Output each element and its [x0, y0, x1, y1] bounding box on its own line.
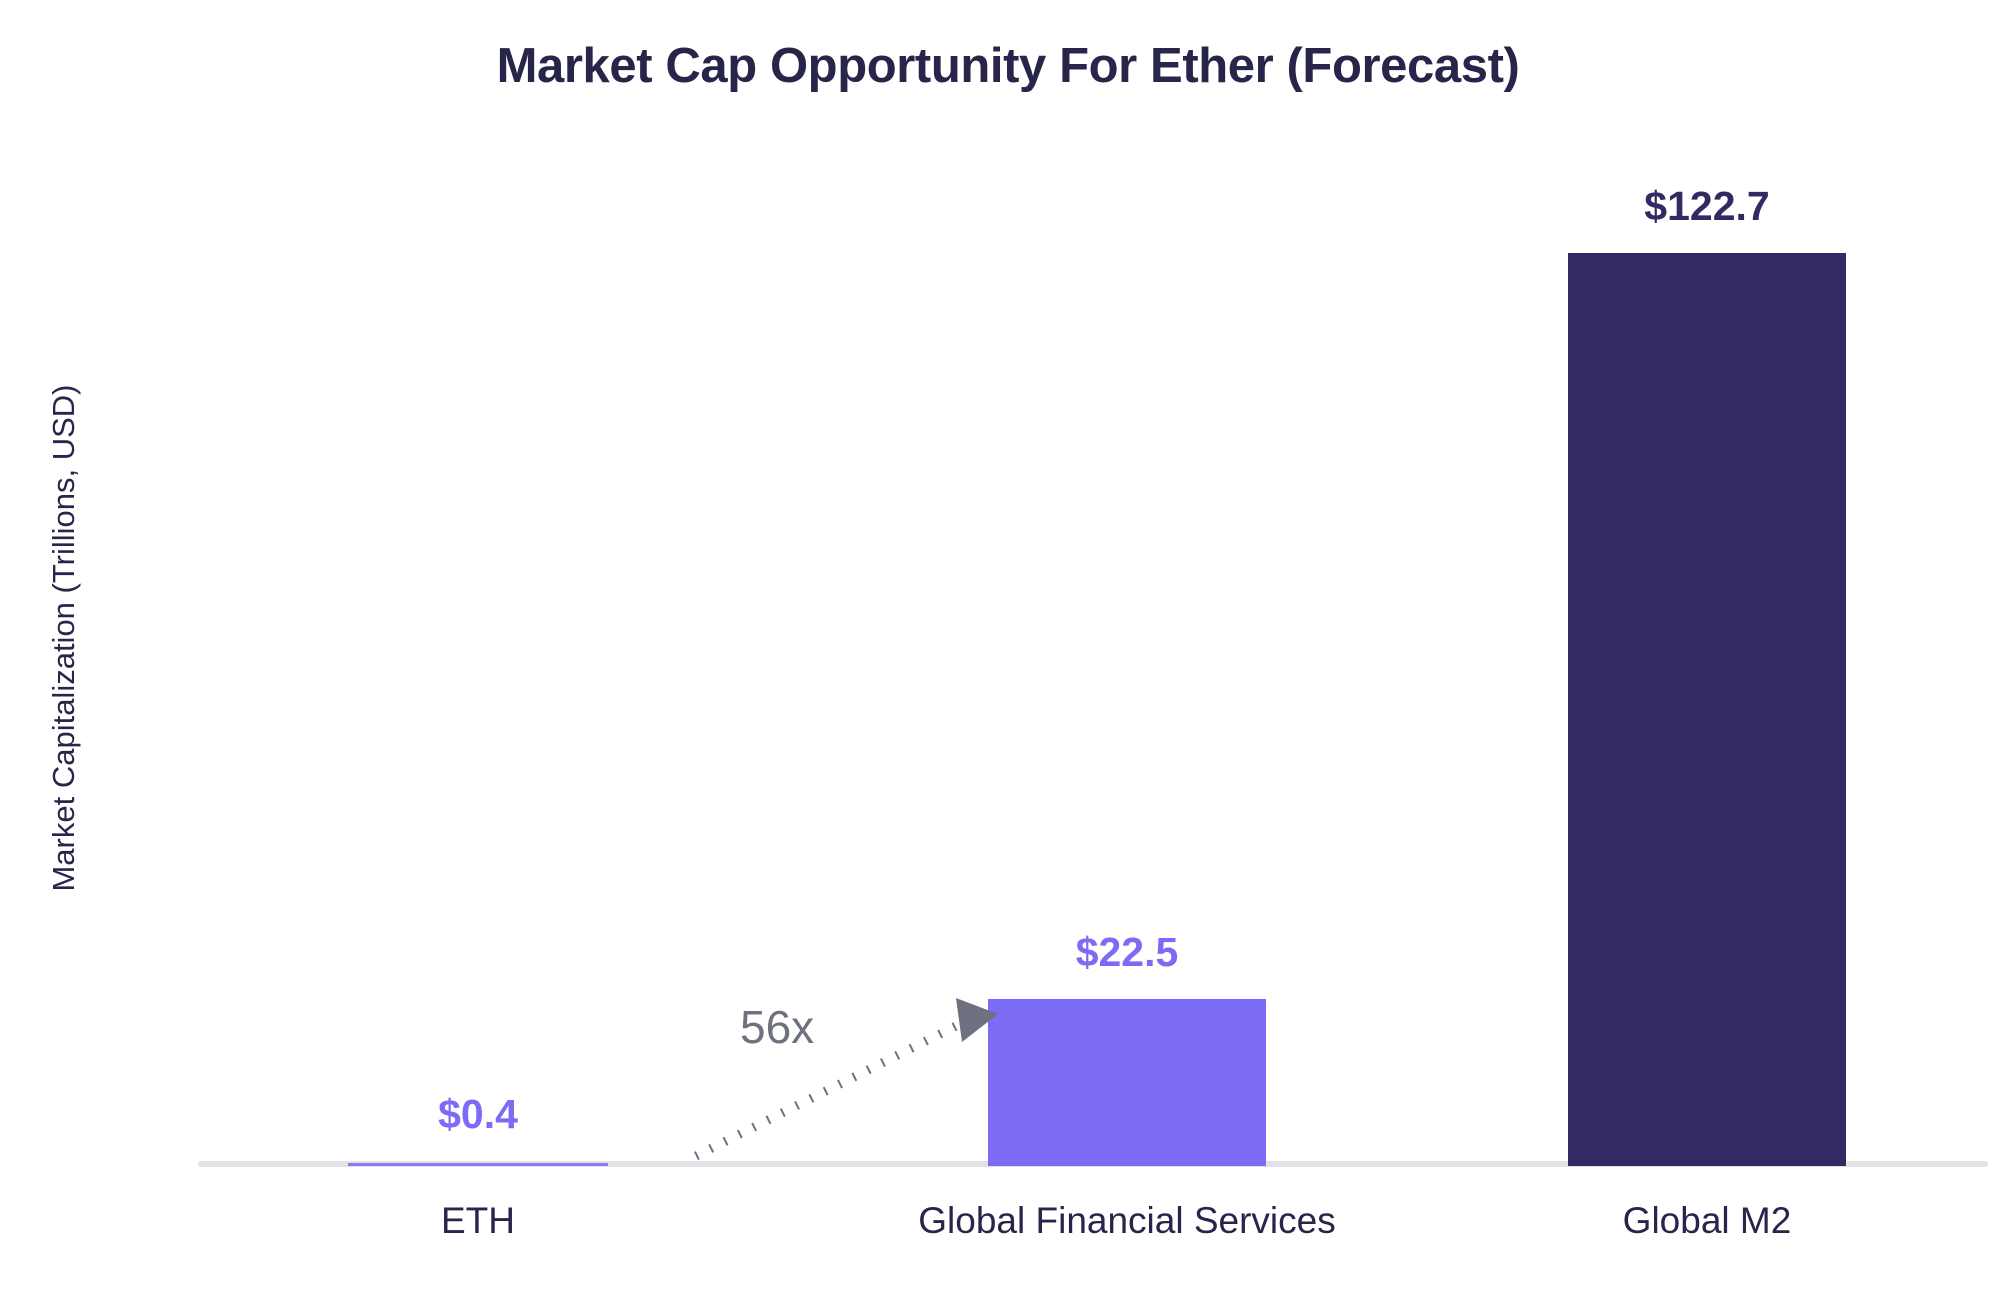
bar-group-global-m2: $122.7 Global M2 [1568, 124, 1846, 1166]
chart-container: Market Cap Opportunity For Ether (Foreca… [0, 0, 2016, 1289]
bar-value-global-m2: $122.7 [1644, 183, 1769, 230]
bar-global-m2[interactable] [1568, 253, 1846, 1166]
chart-title: Market Cap Opportunity For Ether (Foreca… [0, 38, 2016, 94]
plot-area: $140 $120 $100 $80 $60 $40 $20 $0 $0.4 E… [248, 124, 1978, 1166]
annotation-multiplier-label: 56x [740, 1000, 814, 1054]
bar-global-financial-services[interactable] [988, 999, 1266, 1167]
bar-value-eth: $0.4 [438, 1091, 518, 1138]
bar-group-global-financial-services: $22.5 Global Financial Services [988, 124, 1266, 1166]
y-axis-title: Market Capitalization (Trillions, USD) [46, 258, 82, 1018]
bar-eth[interactable] [348, 1163, 608, 1166]
x-category-label-global-m2: Global M2 [1623, 1200, 1792, 1242]
x-category-label-eth: ETH [441, 1200, 515, 1242]
bar-group-eth: $0.4 ETH [348, 124, 608, 1166]
x-category-label-global-financial-services: Global Financial Services [918, 1200, 1335, 1242]
bar-value-global-financial-services: $22.5 [1076, 929, 1179, 976]
